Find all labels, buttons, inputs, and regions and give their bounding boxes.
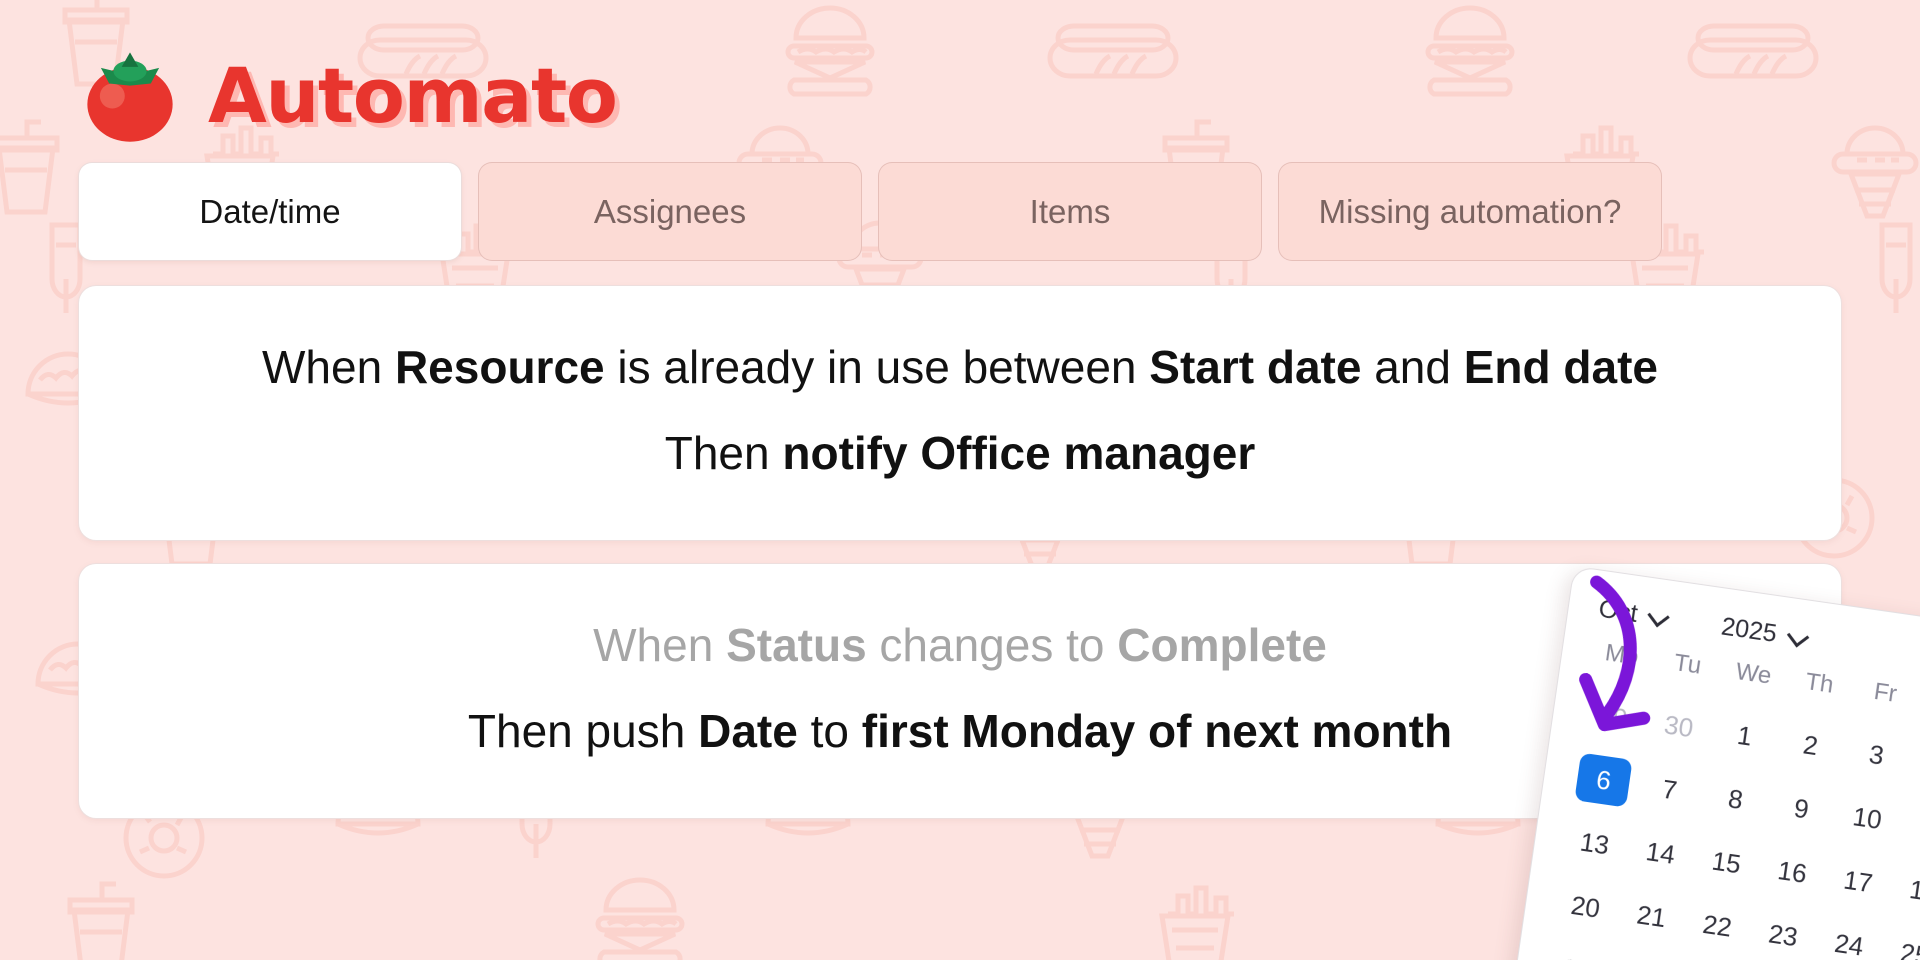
calendar-day[interactable]: 13 [1558, 815, 1631, 872]
rule-when-value-1[interactable]: Start date [1149, 341, 1361, 393]
calendar-day[interactable]: 2 [1774, 717, 1847, 774]
calendar-month-label: Oct [1597, 595, 1640, 629]
calendar-day[interactable]: 20 [1549, 878, 1622, 935]
calendar-day[interactable]: 1 [1708, 707, 1781, 764]
tomato-icon [78, 44, 182, 148]
tab-label: Missing automation? [1319, 193, 1622, 231]
calendar-day[interactable]: 27 [1540, 942, 1613, 960]
tab-items[interactable]: Items [878, 162, 1262, 261]
rule-when-mid: changes to [867, 619, 1118, 671]
calendar-day[interactable]: 24 [1813, 916, 1886, 960]
rule-when-line: When Status changes to Complete [119, 620, 1801, 672]
calendar-day[interactable]: 28 [1606, 951, 1679, 960]
tab-assignees[interactable]: Assignees [478, 162, 862, 261]
calendar-day[interactable]: 22 [1681, 897, 1754, 954]
rule-when-prefix: When [262, 341, 395, 393]
rule-when-field[interactable]: Resource [395, 341, 605, 393]
rule-then-prefix: Then [665, 427, 783, 479]
chevron-down-icon [1787, 624, 1809, 646]
rule-when-value-2[interactable]: End date [1464, 341, 1658, 393]
calendar-year-select[interactable]: 2025 [1719, 612, 1805, 652]
rule-then-field[interactable]: Date [698, 705, 798, 757]
chevron-down-icon [1647, 604, 1669, 626]
rule-then-prefix: Then push [468, 705, 698, 757]
rule-then-line: Then notify Office manager [119, 428, 1801, 480]
rule-when-prefix: When [593, 619, 726, 671]
calendar-day[interactable]: 18 [1888, 862, 1920, 919]
calendar-day[interactable]: 14 [1624, 824, 1697, 881]
tab-label: Date/time [199, 193, 340, 231]
calendar-day[interactable]: 17 [1822, 853, 1895, 910]
brand-name: Automato [208, 58, 617, 134]
app-root: Automato Date/time Assignees Items Missi… [0, 0, 1920, 960]
calendar-day[interactable]: 3 [1840, 726, 1913, 783]
calendar-day[interactable]: 8 [1699, 771, 1772, 828]
tab-bar: Date/time Assignees Items Missing automa… [0, 150, 1920, 261]
calendar-day[interactable]: 30 [1642, 698, 1715, 755]
rule-then-mid: to [798, 705, 862, 757]
calendar-day[interactable]: 25 [1879, 926, 1920, 960]
calendar-day[interactable]: 15 [1690, 834, 1763, 891]
calendar-day[interactable]: 23 [1747, 907, 1820, 960]
rule-when-conj: and [1361, 341, 1463, 393]
calendar-day[interactable]: 16 [1756, 843, 1829, 900]
calendar-year-label: 2025 [1719, 612, 1778, 649]
automation-rule-card[interactable]: When Resource is already in use between … [78, 285, 1842, 541]
rule-then-action[interactable]: notify Office manager [782, 427, 1255, 479]
rule-when-mid: is already in use between [605, 341, 1150, 393]
calendar-month-select[interactable]: Oct [1597, 595, 1666, 633]
tab-missing-automation[interactable]: Missing automation? [1278, 162, 1662, 261]
tab-label: Items [1030, 193, 1111, 231]
rule-when-line: When Resource is already in use between … [119, 342, 1801, 394]
calendar-day[interactable]: 10 [1831, 790, 1904, 847]
calendar-grid[interactable]: MoTuWeThFrSaSu29301234567891011121314151… [1540, 637, 1920, 960]
calendar-day[interactable]: 7 [1633, 761, 1706, 818]
date-picker-popover[interactable]: Oct 2025 ‹ MoTuWeThFrSaSu293012345678910… [1507, 566, 1920, 960]
rule-when-value-1[interactable]: Complete [1117, 619, 1327, 671]
tab-date-time[interactable]: Date/time [78, 162, 462, 261]
tab-label: Assignees [594, 193, 746, 231]
calendar-day[interactable]: 21 [1615, 888, 1688, 945]
brand-header: Automato [0, 0, 1920, 150]
rule-then-action[interactable]: first Monday of next month [862, 705, 1452, 757]
calendar-day[interactable]: 29 [1577, 688, 1650, 745]
rule-when-field[interactable]: Status [726, 619, 867, 671]
calendar-day-selected[interactable]: 6 [1575, 753, 1633, 808]
calendar-day[interactable]: 9 [1765, 780, 1838, 837]
